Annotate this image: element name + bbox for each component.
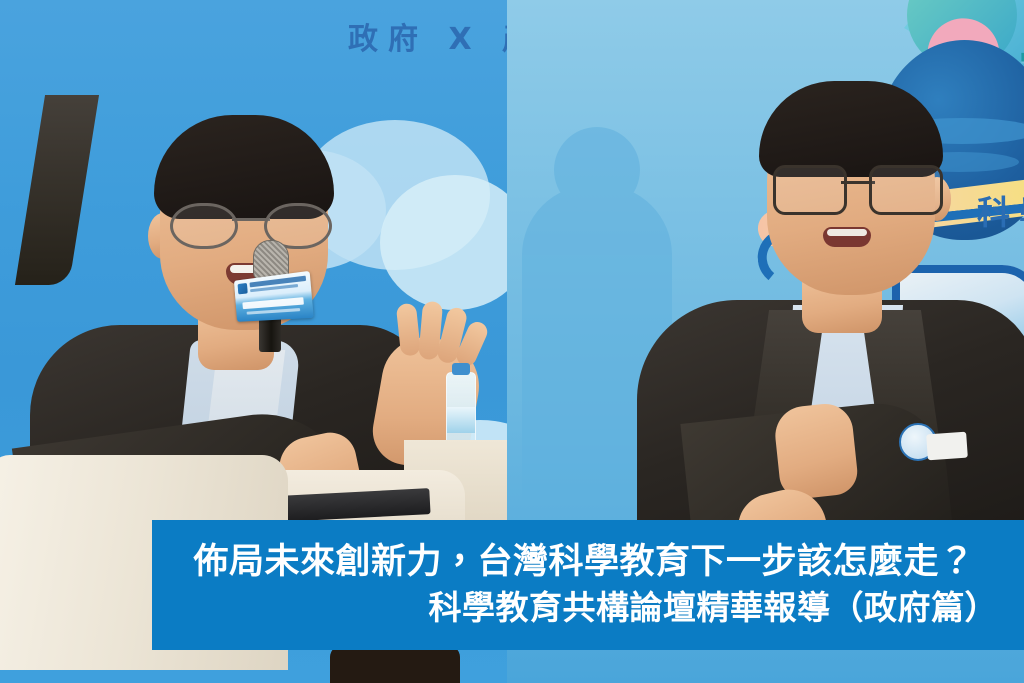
bottle-cap xyxy=(452,363,470,375)
caption-subheadline: 科學教育共構論壇精華報導（政府篇） xyxy=(170,590,998,627)
microphone-flag-left xyxy=(234,271,314,322)
caption-headline: 佈局未來創新力，台灣科學教育下一步該怎麼走？ xyxy=(170,543,998,582)
microphone-left xyxy=(253,240,289,352)
lens-left xyxy=(773,165,847,215)
caption-bar: 佈局未來創新力，台灣科學教育下一步該怎麼走？ 科學教育共構論壇精華報導（政府篇） xyxy=(152,520,1024,650)
organization-logo-icon xyxy=(238,283,248,294)
eyeglasses-icon xyxy=(773,165,943,209)
eyeglasses-icon xyxy=(170,203,332,243)
pocket-square xyxy=(926,432,968,461)
flag-text-line xyxy=(247,308,301,315)
article-cover-image: 政府 X 產 xyxy=(0,0,1024,683)
bottle-label xyxy=(447,407,475,433)
speaker-right xyxy=(627,55,1024,525)
hand-holding-microphone xyxy=(772,401,859,501)
finger xyxy=(396,303,421,357)
lens-left xyxy=(170,203,238,249)
mouth xyxy=(823,227,871,247)
backdrop-kicker-text: 政府 X 產 xyxy=(348,14,507,58)
lens-right xyxy=(869,165,943,215)
hair xyxy=(759,81,943,177)
